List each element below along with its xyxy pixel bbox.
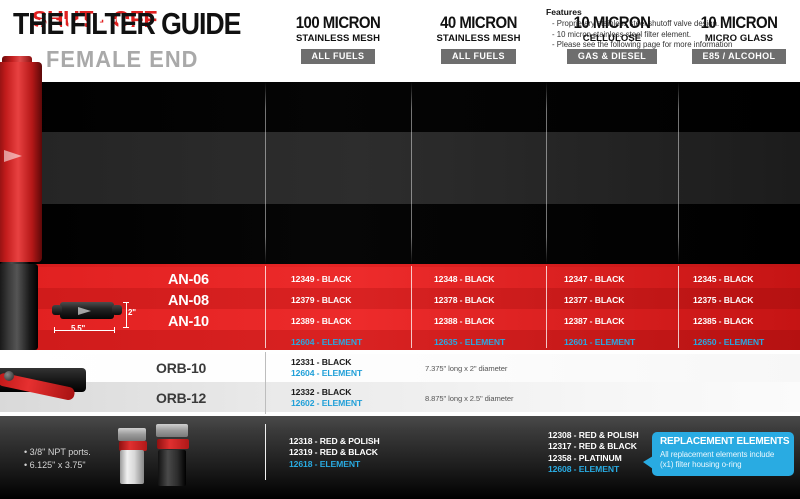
cell-shutoff-orb10-part: 12331 - BLACK 12604 - ELEMENT bbox=[291, 357, 362, 380]
replacement-callout-title: REPLACEMENT ELEMENTS bbox=[660, 437, 787, 447]
column-fuel-badge: ALL FUELS bbox=[441, 49, 516, 64]
table-row bbox=[0, 354, 800, 382]
canister-red-ring bbox=[157, 439, 189, 449]
column-divider bbox=[546, 266, 547, 348]
element-number-text: 12604 - ELEMENT bbox=[291, 368, 362, 379]
replacement-callout-body: All replacement elements include (x1) fi… bbox=[660, 450, 787, 470]
cell-male-10micron-microglass-an06: 12345 - BLACK bbox=[693, 274, 753, 284]
canister-image-polish bbox=[118, 428, 146, 484]
cell-shutoff-orb12-part: 12332 - BLACK 12602 - ELEMENT bbox=[291, 387, 362, 410]
column-micron-label: 40 MICRON bbox=[419, 14, 538, 31]
table-row bbox=[0, 267, 800, 288]
part-number-text: 12317 - RED & BLACK bbox=[548, 441, 639, 452]
cell-male-40micron-an10: 12388 - BLACK bbox=[434, 316, 494, 326]
part-number-text: 12318 - RED & POLISH bbox=[289, 436, 380, 447]
column-header-10-micron-micro-glass: 10 MICRON MICRO GLASS E85 / ALCOHOL bbox=[678, 14, 800, 76]
column-divider bbox=[411, 82, 412, 264]
dimension-cap bbox=[123, 327, 129, 328]
column-micron-label: 100 MICRON bbox=[274, 14, 402, 31]
shutoff-valve-knob bbox=[4, 371, 14, 381]
column-media-label: STAINLESS MESH bbox=[411, 34, 546, 44]
canister-body bbox=[120, 450, 144, 484]
title-block: THE FILTER GUIDE FEMALE END bbox=[0, 0, 265, 82]
column-micron-label: 10 MICRON bbox=[685, 14, 792, 31]
table-row bbox=[0, 132, 800, 204]
column-media-label: STAINLESS MESH bbox=[265, 34, 411, 44]
canister-bracket bbox=[156, 424, 188, 437]
column-divider bbox=[265, 82, 266, 264]
black-fitting-body bbox=[0, 264, 38, 350]
cell-male-100micron-element: 12604 - ELEMENT bbox=[291, 337, 362, 347]
canister-image-black bbox=[156, 424, 188, 486]
row-label-shutoff-orb-10: ORB-10 bbox=[156, 360, 206, 376]
row-label-shutoff-orb-12: ORB-12 bbox=[156, 390, 206, 406]
dimension-length-text: 5.5" bbox=[71, 324, 85, 333]
part-number-text: 12358 - PLATINUM bbox=[548, 453, 639, 464]
part-number-text: 12308 - RED & POLISH bbox=[548, 430, 639, 441]
cell-male-10micron-cellulose-element: 12601 - ELEMENT bbox=[564, 337, 635, 347]
cell-male-10micron-microglass-an08: 12375 - BLACK bbox=[693, 295, 753, 305]
shutoff-orb12-dimension: 8.875" long x 2.5" diameter bbox=[425, 394, 513, 403]
replacement-elements-callout: REPLACEMENT ELEMENTS All replacement ele… bbox=[652, 432, 794, 476]
column-fuel-badge: ALL FUELS bbox=[301, 49, 376, 64]
female-end-table bbox=[0, 82, 800, 264]
cell-male-100micron-an10: 12389 - BLACK bbox=[291, 316, 351, 326]
column-header-10-micron-cellulose: 10 MICRON CELLULOSE GAS & DIESEL bbox=[546, 14, 678, 76]
cell-male-10micron-microglass-an10: 12385 - BLACK bbox=[693, 316, 753, 326]
element-number-text: 12618 - ELEMENT bbox=[289, 459, 380, 470]
shutoff-orb10-dimension: 7.375" long x 2" diameter bbox=[425, 364, 507, 373]
aeromotive-logo-icon bbox=[4, 150, 22, 162]
row-label-an-10: AN-10 bbox=[168, 314, 209, 330]
red-filter-body bbox=[0, 62, 42, 262]
column-divider bbox=[265, 266, 266, 348]
cell-canister-100micron: 12318 - RED & POLISH12319 - RED & BLACK1… bbox=[289, 436, 380, 470]
cell-male-10micron-microglass-element: 12650 - ELEMENT bbox=[693, 337, 764, 347]
filter-end-fitting-right bbox=[112, 305, 122, 315]
canister-bracket bbox=[118, 428, 146, 441]
dimension-cap bbox=[123, 302, 129, 303]
column-fuel-badge: E85 / ALCOHOL bbox=[692, 49, 787, 64]
aeromotive-logo-icon bbox=[78, 307, 91, 315]
page-title: THE FILTER GUIDE bbox=[13, 8, 240, 39]
cell-male-40micron-an06: 12348 - BLACK bbox=[434, 274, 494, 284]
part-number-text: 12319 - RED & BLACK bbox=[289, 447, 380, 458]
table-row bbox=[0, 82, 800, 132]
cell-male-40micron-an08: 12378 - BLACK bbox=[434, 295, 494, 305]
row-label-an-06: AN-06 bbox=[168, 272, 209, 288]
dimension-line-diameter bbox=[126, 302, 127, 327]
table-row bbox=[0, 382, 800, 412]
column-media-label: CELLULOSE bbox=[546, 34, 678, 44]
part-number-text: 12331 - BLACK bbox=[291, 357, 362, 368]
column-divider bbox=[546, 82, 547, 264]
column-header-100-micron: 100 MICRON STAINLESS MESH ALL FUELS bbox=[265, 14, 411, 76]
cell-male-10micron-cellulose-an10: 12387 - BLACK bbox=[564, 316, 624, 326]
column-divider bbox=[411, 266, 412, 348]
filter-illustration-male-end: 5.5" 2" bbox=[52, 296, 148, 346]
element-number-text: 12608 - ELEMENT bbox=[548, 464, 639, 475]
dimension-diameter-text: 2" bbox=[128, 308, 136, 317]
column-divider bbox=[265, 352, 266, 414]
filter-guide-page: THE FILTER GUIDE FEMALE END 100 MICRON S… bbox=[0, 0, 800, 499]
column-micron-label: 10 MICRON bbox=[554, 14, 670, 31]
table-row bbox=[0, 204, 800, 264]
column-divider bbox=[265, 424, 266, 480]
column-media-label: MICRO GLASS bbox=[678, 34, 800, 44]
cell-male-40micron-element: 12635 - ELEMENT bbox=[434, 337, 505, 347]
shut-off-section bbox=[0, 350, 800, 416]
dimension-cap bbox=[114, 327, 115, 333]
element-number-text: 12602 - ELEMENT bbox=[291, 398, 362, 409]
column-divider bbox=[678, 266, 679, 348]
section-title-female-end: FEMALE END bbox=[46, 48, 198, 71]
cell-male-100micron-an08: 12379 - BLACK bbox=[291, 295, 351, 305]
cell-canister-10micron-cellulose: 12308 - RED & POLISH12317 - RED & BLACK1… bbox=[548, 430, 639, 476]
part-number-text: 12332 - BLACK bbox=[291, 387, 362, 398]
column-divider bbox=[678, 82, 679, 264]
canister-body bbox=[158, 450, 186, 486]
row-label-an-08: AN-08 bbox=[168, 293, 209, 309]
column-fuel-badge: GAS & DIESEL bbox=[567, 49, 657, 64]
column-header-40-micron: 40 MICRON STAINLESS MESH ALL FUELS bbox=[411, 14, 546, 76]
cell-male-100micron-an06: 12349 - BLACK bbox=[291, 274, 351, 284]
cell-male-10micron-cellulose-an08: 12377 - BLACK bbox=[564, 295, 624, 305]
cell-male-10micron-cellulose-an06: 12347 - BLACK bbox=[564, 274, 624, 284]
